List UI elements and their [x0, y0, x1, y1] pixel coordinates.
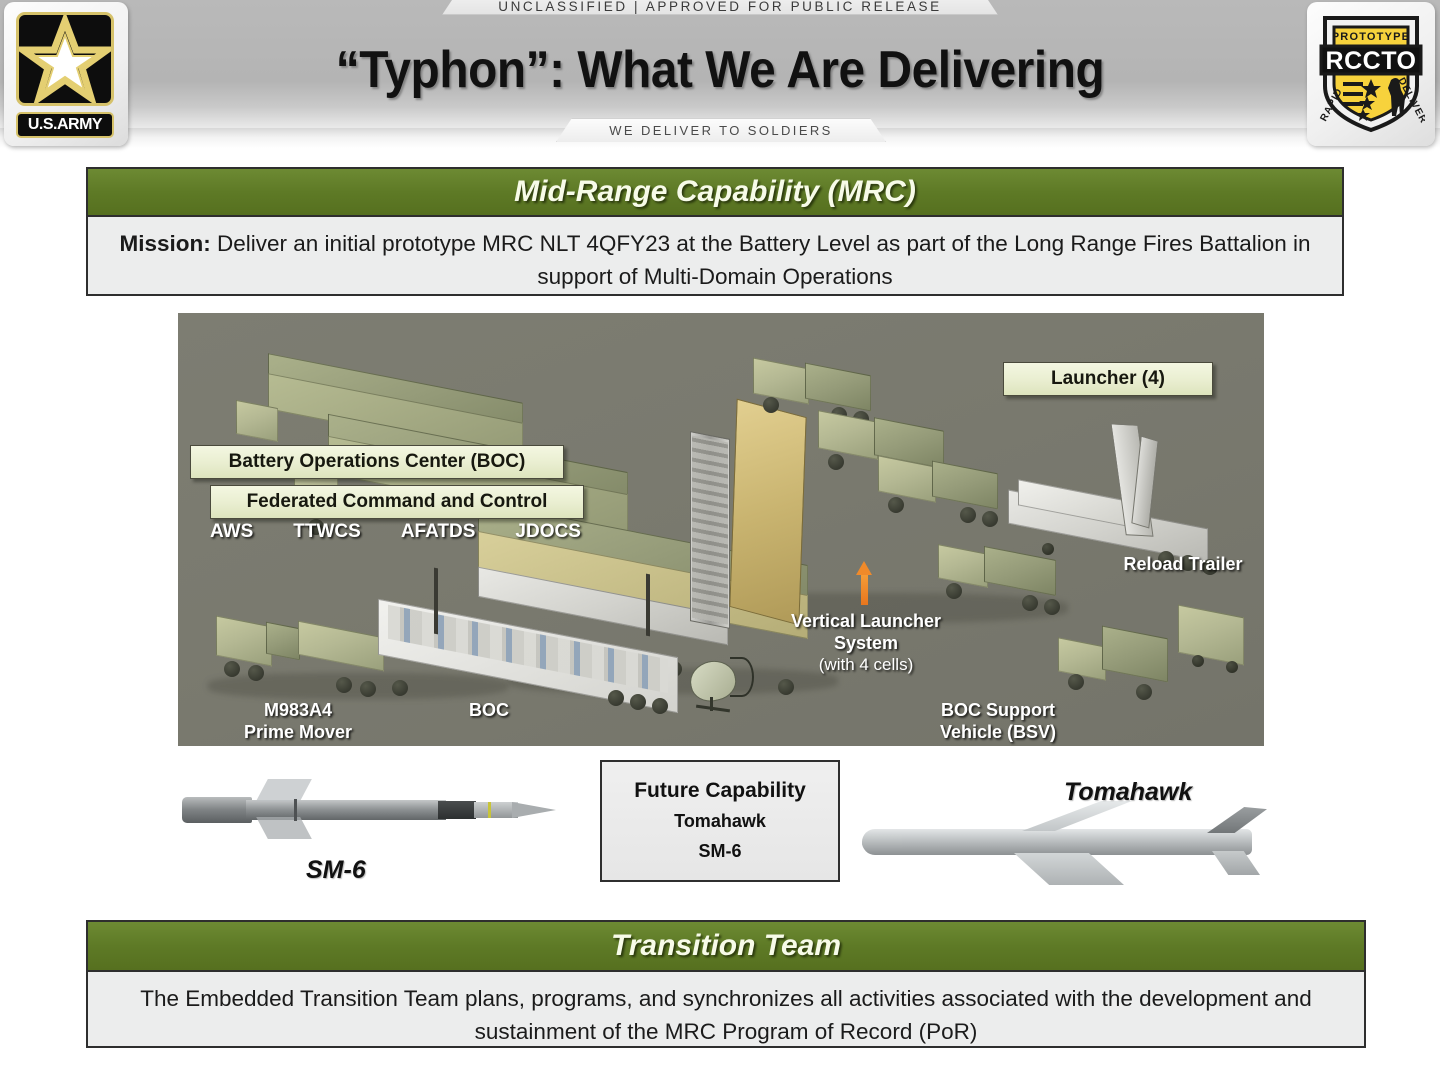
- transition-body-text: The Embedded Transition Team plans, prog…: [108, 982, 1344, 1048]
- svg-text:RCCTO: RCCTO: [1326, 47, 1417, 75]
- boc-antenna-right: [646, 574, 650, 637]
- svg-text:PROTOTYPE: PROTOTYPE: [1332, 31, 1410, 43]
- army-wordmark-text: U.S.ARMY: [28, 116, 102, 134]
- tomahawk-missile-graphic: [862, 795, 1272, 879]
- tomahawk-wing-lower: [1014, 853, 1124, 885]
- system-jdocs: JDOCS: [515, 521, 580, 543]
- mrc-section-heading: Mid-Range Capability (MRC): [88, 169, 1342, 217]
- federated-c2-label-box: Federated Command and Control: [210, 485, 584, 519]
- system-afatds: AFATDS: [401, 521, 476, 543]
- future-capability-box: Future Capability Tomahawk SM-6: [600, 760, 840, 882]
- classification-banner: UNCLASSIFIED | APPROVED FOR PUBLIC RELEA…: [442, 0, 998, 15]
- vls-line1: Vertical Launcher: [778, 610, 954, 632]
- boc-callout-line1: BOC: [444, 699, 534, 721]
- future-capability-title: Future Capability: [634, 779, 806, 803]
- c2-systems-row: AWS TTWCS AFATDS JDOCS: [210, 521, 581, 543]
- tagline-banner: WE DELIVER TO SOLDIERS: [556, 118, 886, 142]
- transition-team-section: Transition Team The Embedded Transition …: [86, 920, 1366, 1048]
- sm6-caption: SM-6: [306, 856, 366, 885]
- mrc-heading-text: Mid-Range Capability (MRC): [514, 175, 916, 209]
- boc-antenna-left: [434, 568, 438, 635]
- boc-callout: BOC: [444, 699, 534, 721]
- reload-trailer-callout: Reload Trailer: [1108, 553, 1258, 575]
- army-star-icon: [16, 12, 114, 106]
- launcher-label-text: Launcher (4): [1051, 368, 1165, 390]
- mrc-section: Mid-Range Capability (MRC) Mission: Deli…: [86, 167, 1344, 296]
- mrc-battery-diagram: Battery Operations Center (BOC) Federate…: [176, 311, 1266, 748]
- transition-team-body: The Embedded Transition Team plans, prog…: [88, 972, 1364, 1056]
- army-wordmark: U.S.ARMY: [16, 112, 114, 138]
- slide-header: UNCLASSIFIED | APPROVED FOR PUBLIC RELEA…: [0, 0, 1440, 148]
- vls-line2: System: [778, 632, 954, 654]
- page-title: “Typhon”: What We Are Delivering: [196, 40, 1245, 100]
- federated-c2-label-text: Federated Command and Control: [247, 491, 548, 513]
- mission-text: Deliver an initial prototype MRC NLT 4QF…: [211, 231, 1311, 289]
- vls-callout: Vertical Launcher System (with 4 cells): [778, 610, 954, 676]
- vls-cell-lattice: [692, 436, 728, 625]
- rccto-shield-icon: PROTOTYPE RCCTO RAPID DELIVER: [1317, 10, 1425, 136]
- tomahawk-caption: Tomahawk: [1064, 778, 1192, 807]
- vls-pointer-arrow-icon: [856, 561, 872, 605]
- tomahawk-tail-fin-lower: [1212, 851, 1260, 875]
- rccto-logo: PROTOTYPE RCCTO RAPID DELIVER: [1307, 2, 1435, 146]
- slide-root: UNCLASSIFIED | APPROVED FOR PUBLIC RELEA…: [0, 0, 1440, 1066]
- tagline-text: WE DELIVER TO SOLDIERS: [609, 123, 833, 138]
- prime-mover-line2: Prime Mover: [218, 721, 378, 743]
- vls-erected-panel: [729, 399, 806, 626]
- classification-text: UNCLASSIFIED | APPROVED FOR PUBLIC RELEA…: [498, 0, 942, 14]
- boc-label-text: Battery Operations Center (BOC): [229, 451, 526, 473]
- boc-label-box: Battery Operations Center (BOC): [190, 445, 564, 479]
- satellite-dish-icon: [690, 661, 744, 705]
- system-aws: AWS: [210, 521, 253, 543]
- transition-heading-text: Transition Team: [611, 929, 841, 963]
- sm6-missile-graphic: [182, 783, 582, 835]
- transition-team-heading: Transition Team: [88, 922, 1364, 972]
- us-army-logo: U.S.ARMY: [4, 2, 128, 146]
- tomahawk-tail-fin: [1207, 807, 1267, 833]
- bsv-callout: BOC Support Vehicle (BSV): [908, 699, 1088, 743]
- prime-mover-callout: M983A4 Prime Mover: [218, 699, 378, 743]
- vls-line3: (with 4 cells): [778, 654, 954, 676]
- prime-mover-line1: M983A4: [218, 699, 378, 721]
- bsv-line2: Vehicle (BSV): [908, 721, 1088, 743]
- mission-label: Mission:: [120, 231, 211, 256]
- reload-trailer-line1: Reload Trailer: [1108, 553, 1258, 575]
- future-capability-item-tomahawk: Tomahawk: [674, 809, 766, 833]
- bsv-line1: BOC Support: [908, 699, 1088, 721]
- system-ttwcs: TTWCS: [293, 521, 361, 543]
- launcher-label-box: Launcher (4): [1003, 362, 1213, 396]
- future-capability-item-sm6: SM-6: [698, 839, 741, 863]
- mrc-mission-body: Mission: Deliver an initial prototype MR…: [88, 217, 1342, 301]
